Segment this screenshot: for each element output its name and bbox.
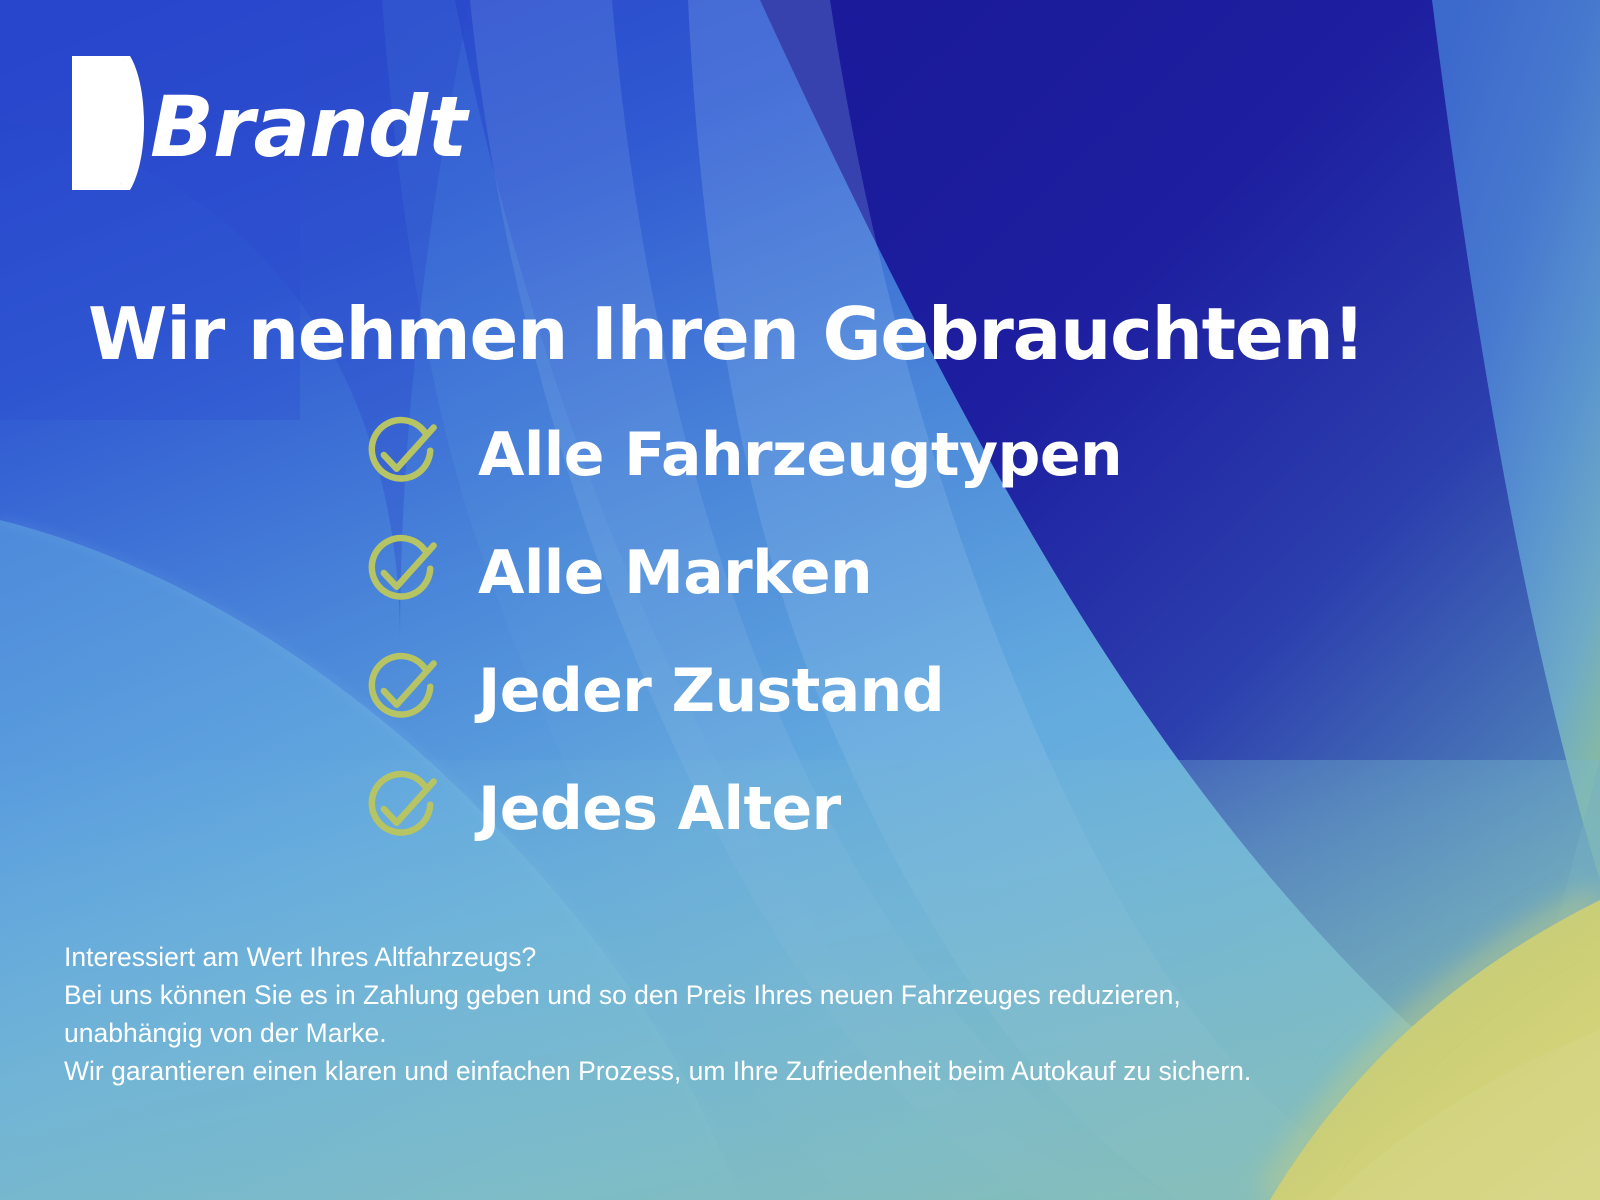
list-item-label: Jedes Alter <box>478 779 841 839</box>
check-circle-icon <box>358 766 444 852</box>
body-copy-line: Wir garantieren einen klaren und einfach… <box>64 1052 1544 1090</box>
brand-logo: Brandt <box>72 56 466 190</box>
list-item: Jeder Zustand <box>358 632 1458 750</box>
brandt-crescent-mark-icon <box>72 56 144 190</box>
check-circle-icon <box>358 530 444 616</box>
body-copy: Interessiert am Wert Ihres Altfahrzeugs?… <box>64 938 1544 1090</box>
page-title: Wir nehmen Ihren Gebrauchten! <box>88 296 1528 372</box>
list-item-label: Jeder Zustand <box>478 661 944 721</box>
list-item: Alle Marken <box>358 514 1458 632</box>
brand-wordmark: Brandt <box>150 85 466 169</box>
check-circle-icon <box>358 648 444 734</box>
list-item-label: Alle Fahrzeugtypen <box>478 425 1122 485</box>
body-copy-line: Bei uns können Sie es in Zahlung geben u… <box>64 976 1544 1014</box>
promo-poster: Brandt Wir nehmen Ihren Gebrauchten! All… <box>0 0 1600 1200</box>
list-item: Alle Fahrzeugtypen <box>358 396 1458 514</box>
check-circle-icon <box>358 412 444 498</box>
list-item: Jedes Alter <box>358 750 1458 868</box>
body-copy-line: Interessiert am Wert Ihres Altfahrzeugs? <box>64 938 1544 976</box>
body-copy-line: unabhängig von der Marke. <box>64 1014 1544 1052</box>
list-item-label: Alle Marken <box>478 543 872 603</box>
feature-list: Alle Fahrzeugtypen Alle Marken Jeder Zus… <box>358 396 1458 868</box>
